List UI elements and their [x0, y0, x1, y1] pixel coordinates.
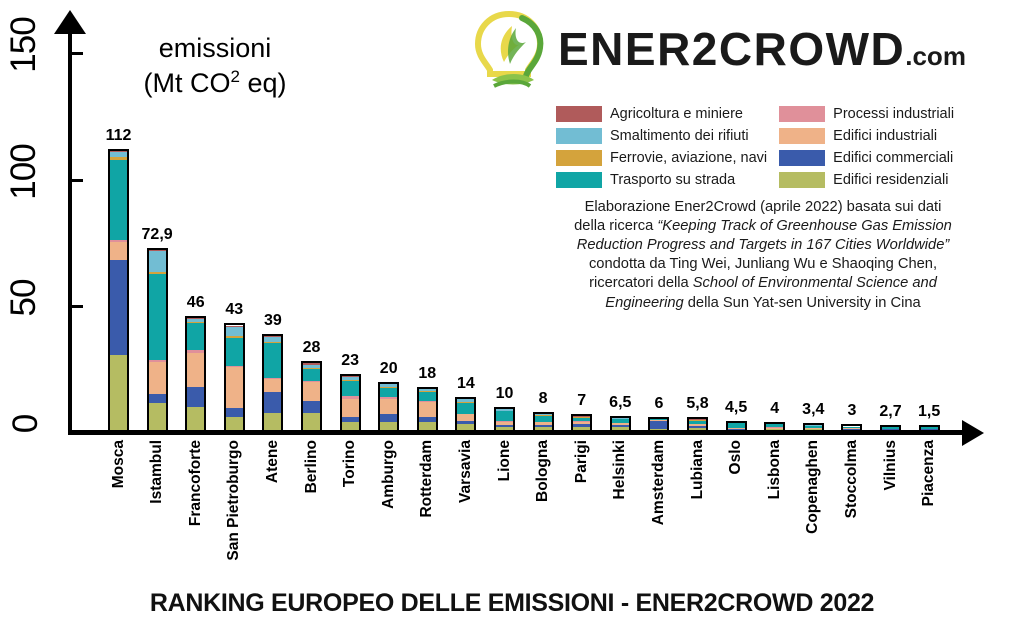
bar-group[interactable]: 28: [301, 28, 322, 432]
bar-segment: [419, 402, 436, 417]
bar-segment: [110, 160, 127, 240]
x-category-label: Piacenza: [920, 440, 938, 506]
bar-segment: [689, 428, 706, 430]
bar-value-label: 8: [539, 390, 548, 408]
stacked-bar[interactable]: [610, 416, 631, 432]
bar-value-label: 39: [264, 312, 282, 330]
bar-segment: [149, 274, 166, 360]
bar-segment: [149, 394, 166, 403]
stacked-bar[interactable]: [533, 412, 554, 432]
x-category-label: Rotterdam: [418, 440, 436, 518]
bar-value-label: 28: [303, 339, 321, 357]
bar-segment: [303, 369, 320, 381]
bar-value-label: 7: [577, 392, 586, 410]
stacked-bar[interactable]: [726, 421, 747, 432]
x-category-label: Berlino: [303, 440, 321, 493]
bar-group[interactable]: 72,9: [147, 28, 168, 432]
bar-segment: [457, 403, 474, 414]
stacked-bar[interactable]: [108, 149, 129, 432]
x-category-label: Parigi: [573, 440, 591, 483]
x-category-label: Amburgo: [380, 440, 398, 509]
bar-segment: [187, 387, 204, 407]
bar-segment: [264, 392, 281, 413]
stacked-bar[interactable]: [880, 425, 901, 432]
bar-group[interactable]: 6: [648, 28, 669, 432]
stacked-bar[interactable]: [417, 387, 438, 432]
stacked-bar[interactable]: [803, 423, 824, 432]
bar-segment: [226, 327, 243, 337]
y-tick-label: 0: [6, 394, 46, 454]
bar-segment: [612, 427, 629, 430]
bar-group[interactable]: 23: [340, 28, 361, 432]
bar-segment: [187, 407, 204, 430]
bar-group[interactable]: 43: [224, 28, 245, 432]
bar-segment: [650, 421, 667, 430]
bar-segment: [226, 338, 243, 366]
bar-group[interactable]: 4,5: [726, 28, 747, 432]
bar-segment: [187, 323, 204, 350]
bar-segment: [149, 251, 166, 272]
stacked-bar[interactable]: [147, 248, 168, 432]
bar-value-label: 3,4: [802, 401, 824, 419]
bar-value-label: 43: [225, 301, 243, 319]
bar-segment: [303, 382, 320, 401]
x-category-label: Lisbona: [766, 440, 784, 499]
bar-segment: [496, 427, 513, 430]
bar-value-label: 18: [418, 365, 436, 383]
x-category-label: Lione: [496, 440, 514, 481]
bar-group[interactable]: 6,5: [610, 28, 631, 432]
bar-group[interactable]: 10: [494, 28, 515, 432]
bar-value-label: 6: [654, 395, 663, 413]
x-category-label: Torino: [341, 440, 359, 487]
bar-segment: [110, 260, 127, 356]
bar-segment: [380, 388, 397, 397]
bar-value-label: 14: [457, 375, 475, 393]
bar-group[interactable]: 4: [764, 28, 785, 432]
x-category-label: Atene: [264, 440, 282, 483]
bar-value-label: 4: [770, 400, 779, 418]
x-category-label: Mosca: [110, 440, 128, 488]
x-category-label: Stoccolma: [843, 440, 861, 518]
bar-segment: [264, 343, 281, 378]
bar-segment: [457, 414, 474, 421]
bar-segment: [805, 429, 822, 430]
stacked-bar[interactable]: [262, 334, 283, 432]
x-category-label: Lubiana: [689, 440, 707, 499]
bar-group[interactable]: 39: [262, 28, 283, 432]
bar-group[interactable]: 7: [571, 28, 592, 432]
chart-footer-title: RANKING EUROPEO DELLE EMISSIONI - ENER2C…: [0, 589, 1024, 618]
stacked-bar[interactable]: [687, 417, 708, 432]
bar-group[interactable]: 14: [455, 28, 476, 432]
bar-group[interactable]: 2,7: [880, 28, 901, 432]
bar-segment: [149, 362, 166, 394]
stacked-bar[interactable]: [494, 407, 515, 432]
bar-value-label: 5,8: [686, 395, 708, 413]
bar-segment: [496, 411, 513, 421]
bar-group[interactable]: 3,4: [803, 28, 824, 432]
bar-value-label: 72,9: [142, 226, 173, 244]
bar-segment: [226, 417, 243, 430]
bar-segment: [535, 427, 552, 430]
bar-segment: [110, 355, 127, 430]
y-tick-label: 100: [4, 142, 44, 202]
bar-segment: [650, 429, 667, 430]
bar-segment: [419, 392, 436, 401]
stacked-bar[interactable]: [455, 397, 476, 432]
bar-segment: [342, 422, 359, 430]
bar-value-label: 46: [187, 294, 205, 312]
bar-segment: [303, 413, 320, 430]
bar-group[interactable]: 46: [185, 28, 206, 432]
bar-segment: [342, 381, 359, 396]
bar-value-label: 20: [380, 360, 398, 378]
stacked-bar[interactable]: [764, 422, 785, 432]
bar-group[interactable]: 1,5: [919, 28, 940, 432]
stacked-bar[interactable]: [378, 382, 399, 433]
bar-segment: [342, 399, 359, 417]
stacked-bar[interactable]: [301, 361, 322, 432]
bar-group[interactable]: 5,8: [687, 28, 708, 432]
bar-segment: [573, 427, 590, 430]
bar-segment: [380, 414, 397, 422]
x-category-label: Oslo: [727, 440, 745, 474]
stacked-bar[interactable]: [224, 323, 245, 432]
x-category-label: Copenaghen: [804, 440, 822, 534]
x-category-label: Francoforte: [187, 440, 205, 526]
x-category-label: San Pietroburgo: [225, 440, 243, 561]
x-category-label: Vilnius: [882, 440, 900, 491]
bar-segment: [187, 353, 204, 387]
stacked-bar[interactable]: [571, 414, 592, 432]
bar-value-label: 6,5: [609, 394, 631, 412]
bar-segment: [457, 424, 474, 430]
stacked-bar[interactable]: [841, 424, 862, 432]
stacked-bar[interactable]: [185, 316, 206, 432]
y-tick-label: 50: [4, 268, 44, 328]
bar-value-label: 23: [341, 352, 359, 370]
bar-chart-plot-area: 11272,9464339282320181410876,565,84,543,…: [68, 28, 968, 432]
bar-segment: [419, 422, 436, 430]
bar-segment: [226, 408, 243, 417]
bar-value-label: 3: [847, 402, 856, 420]
bar-segment: [110, 242, 127, 259]
stacked-bar[interactable]: [648, 417, 669, 432]
bar-group[interactable]: 8: [533, 28, 554, 432]
bar-segment: [380, 422, 397, 430]
bar-value-label: 10: [496, 385, 514, 403]
bar-value-label: 2,7: [879, 403, 901, 421]
bar-value-label: 112: [106, 127, 132, 145]
bar-group[interactable]: 112: [108, 28, 129, 432]
x-category-label: Bologna: [534, 440, 552, 502]
y-tick-label: 150: [4, 15, 44, 75]
bar-segment: [149, 403, 166, 430]
bar-group[interactable]: 3: [841, 28, 862, 432]
bar-segment: [264, 413, 281, 430]
x-category-label: Varsavia: [457, 440, 475, 503]
stacked-bar[interactable]: [340, 374, 361, 432]
x-category-label: Istambul: [148, 440, 166, 504]
bar-segment: [264, 379, 281, 392]
bar-segment: [226, 367, 243, 408]
bar-segment: [766, 429, 783, 430]
bar-value-label: 1,5: [918, 403, 940, 421]
x-category-label: Amsterdam: [650, 440, 668, 525]
x-category-label: Helsinki: [611, 440, 629, 499]
bar-group[interactable]: 18: [417, 28, 438, 432]
bar-value-label: 4,5: [725, 399, 747, 417]
stacked-bar[interactable]: [919, 425, 940, 432]
bar-group[interactable]: 20: [378, 28, 399, 432]
bar-segment: [380, 399, 397, 414]
bar-segment: [303, 401, 320, 413]
